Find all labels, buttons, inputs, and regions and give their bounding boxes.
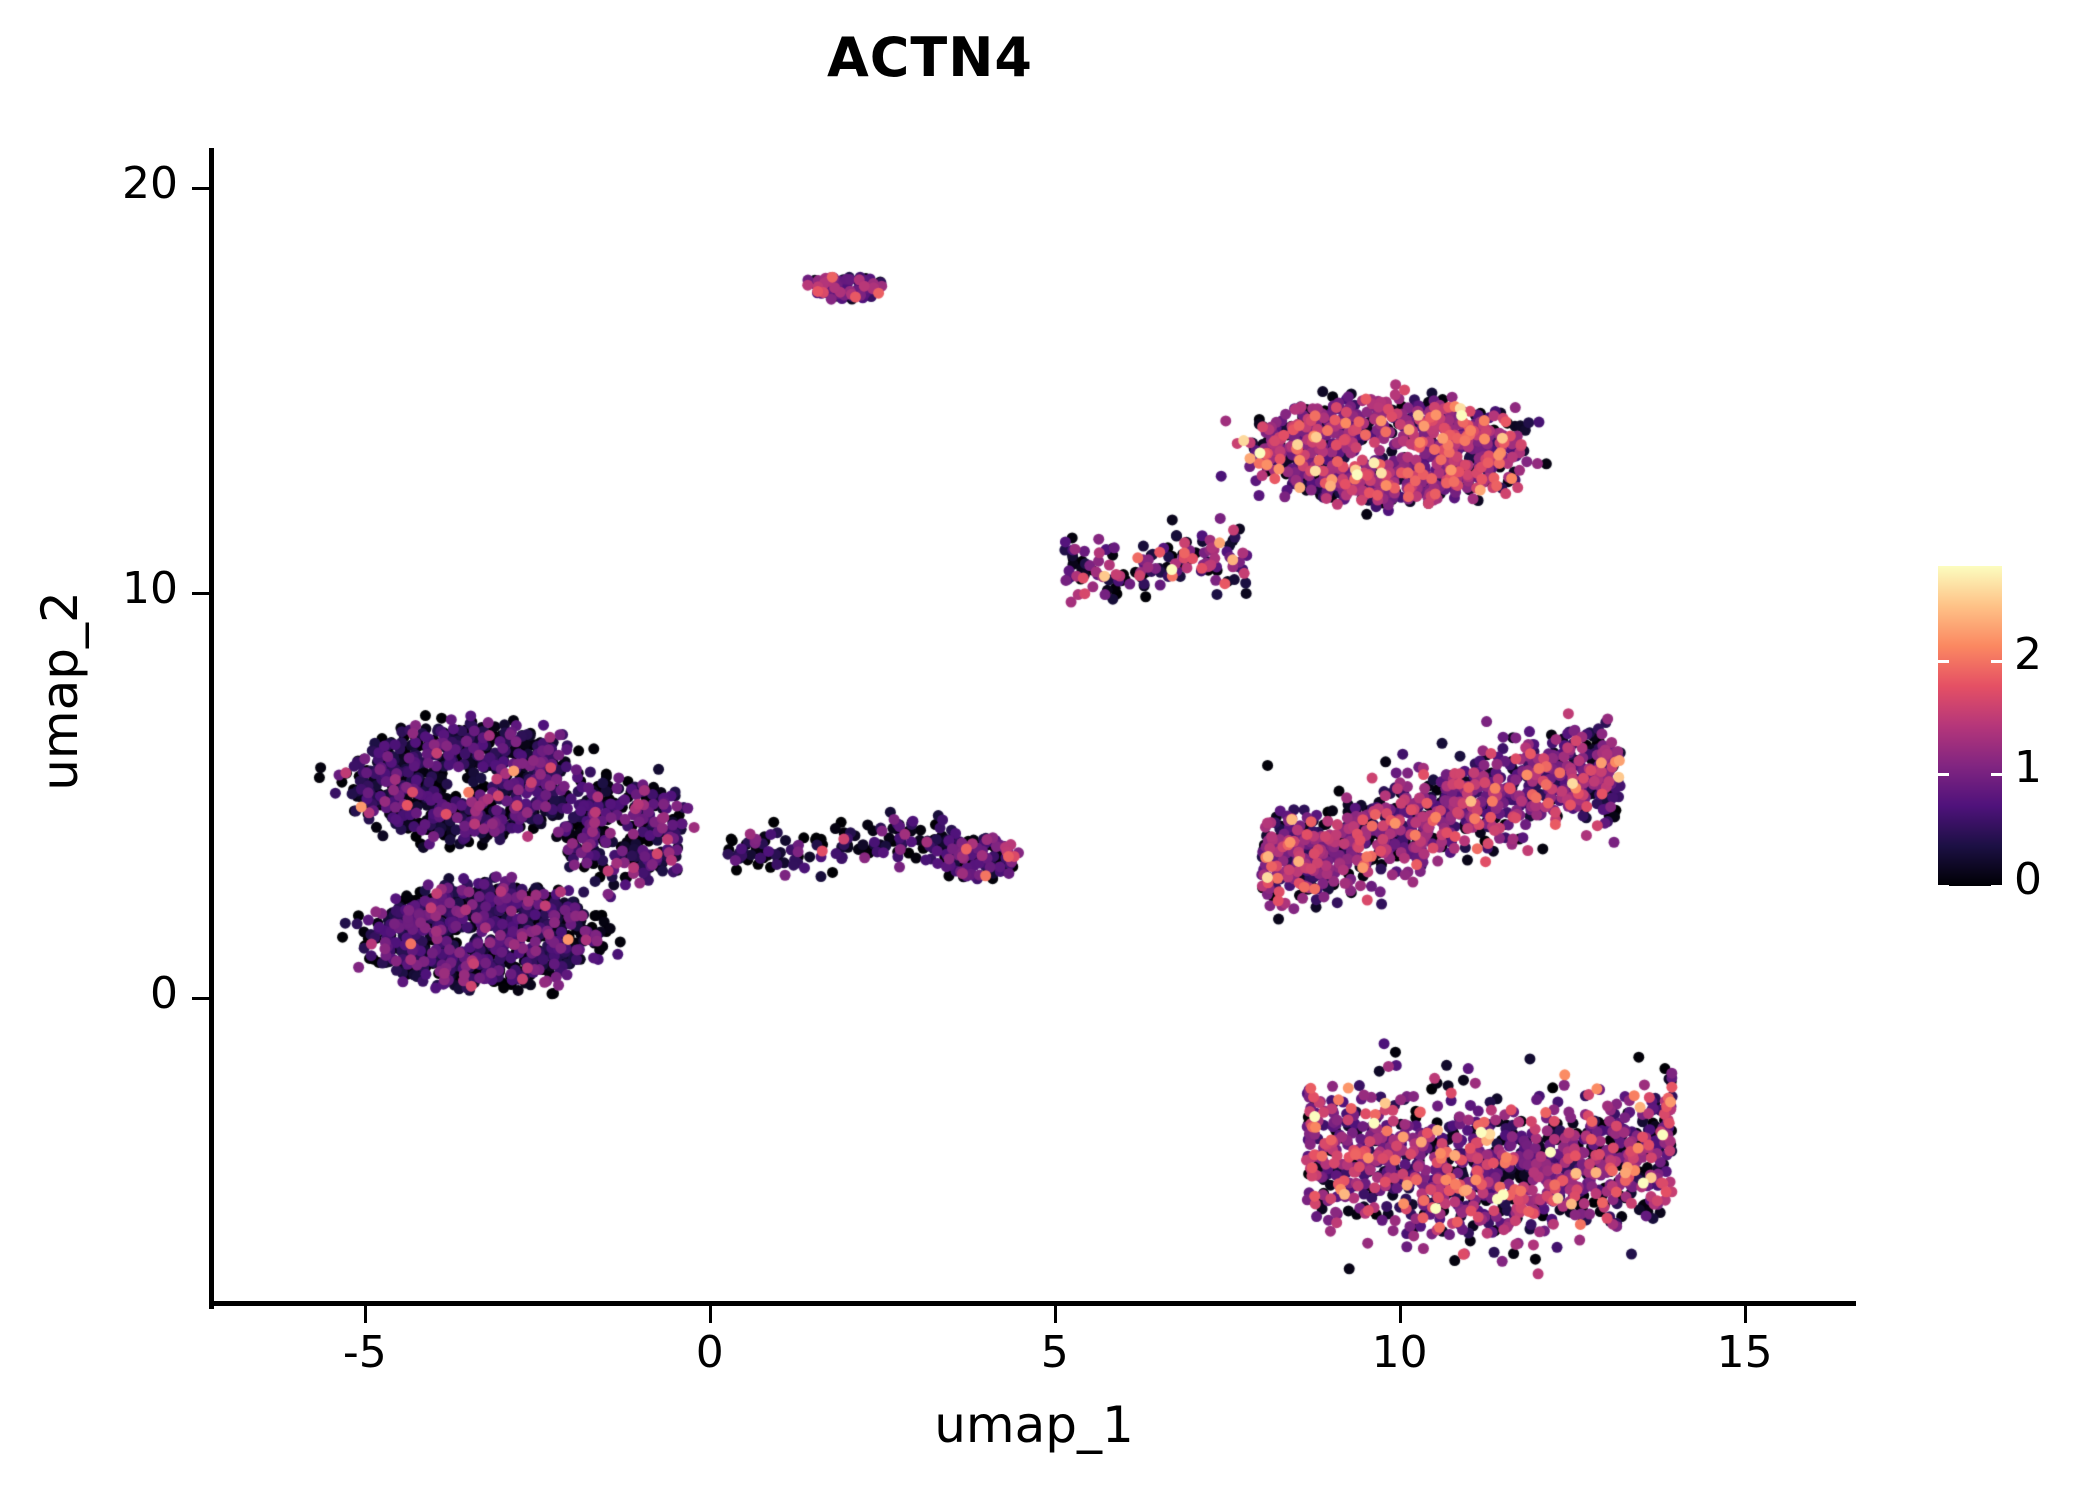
plot-area: [213, 152, 1855, 1305]
y-tick-mark: [192, 187, 209, 190]
colorbar-tick-mark: [1991, 773, 2002, 776]
x-tick-label: 5: [975, 1327, 1135, 1378]
colorbar-gradient: [1938, 566, 2002, 886]
x-tick-mark: [1744, 1306, 1747, 1323]
x-tick-label: -5: [285, 1327, 445, 1378]
colorbar-tick-label: 2: [2014, 633, 2042, 677]
x-axis-label: umap_1: [213, 1396, 1855, 1454]
page-title: ACTN4: [0, 26, 1860, 89]
colorbar-tick-mark: [1991, 885, 2002, 888]
x-tick-label: 10: [1320, 1327, 1480, 1378]
y-tick-mark: [192, 592, 209, 595]
x-tick-mark: [364, 1306, 367, 1323]
colorbar: 012: [1938, 566, 2002, 886]
y-axis-label: umap_2: [31, 341, 89, 1041]
y-tick-label: 10: [0, 563, 178, 614]
colorbar-tick-mark: [1938, 773, 1949, 776]
colorbar-tick-mark: [1938, 885, 1949, 888]
colorbar-tick-mark: [1991, 660, 2002, 663]
scatter-points-canvas: [213, 152, 1855, 1305]
y-tick-label: 20: [0, 158, 178, 209]
colorbar-tick-mark: [1938, 660, 1949, 663]
x-tick-label: 0: [630, 1327, 790, 1378]
colorbar-tick-label: 1: [2014, 746, 2042, 790]
colorbar-tick-label: 0: [2014, 858, 2042, 902]
scatter-plot-figure: ACTN4 -5051015 01020 umap_1 umap_2 012: [0, 0, 2100, 1500]
x-tick-mark: [709, 1306, 712, 1323]
y-tick-mark: [192, 997, 209, 1000]
x-tick-mark: [1399, 1306, 1402, 1323]
x-tick-mark: [1054, 1306, 1057, 1323]
y-tick-label: 0: [0, 968, 178, 1019]
x-tick-label: 15: [1665, 1327, 1825, 1378]
